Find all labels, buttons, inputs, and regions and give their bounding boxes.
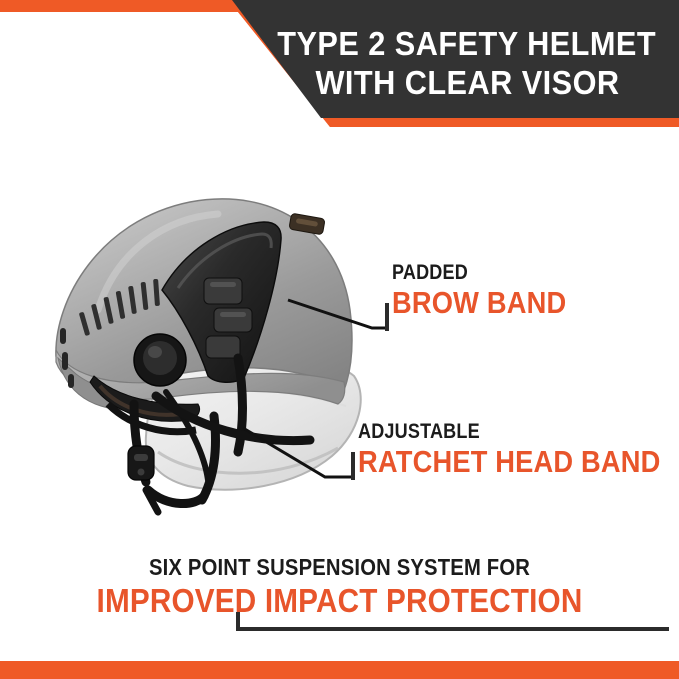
helmet-product-image xyxy=(38,160,368,520)
header-title-line-1: TYPE 2 SAFETY HELMET xyxy=(278,25,657,64)
footer-tagline: SIX POINT SUSPENSION SYSTEM FOR IMPROVED… xyxy=(0,556,679,618)
callout-ratchet-head-band-sub: ADJUSTABLE xyxy=(358,421,654,442)
footer-tagline-main: IMPROVED IMPACT PROTECTION xyxy=(34,584,645,618)
chin-strap-buckle xyxy=(128,446,154,480)
callout-brow-band-sub: PADDED xyxy=(392,262,562,283)
callout-brow-band-main: BROW BAND xyxy=(392,287,566,319)
callout-ratchet-head-band-main: RATCHET HEAD BAND xyxy=(358,446,661,478)
callout-tick-brow-band xyxy=(385,303,389,331)
callout-brow-band: PADDED BROW BAND xyxy=(392,262,590,319)
header-title-group: TYPE 2 SAFETY HELMET WITH CLEAR VISOR xyxy=(255,8,679,120)
infographic-canvas: TYPE 2 SAFETY HELMET WITH CLEAR VISOR xyxy=(0,0,679,679)
bottom-accent-bar xyxy=(0,661,679,679)
visor-pivot-knob xyxy=(134,334,186,386)
header-banner: TYPE 2 SAFETY HELMET WITH CLEAR VISOR xyxy=(0,0,679,132)
helmet-illustration xyxy=(38,160,368,520)
footer-rule xyxy=(236,627,669,631)
header-title-line-2: WITH CLEAR VISOR xyxy=(315,64,619,103)
footer-tagline-sub: SIX POINT SUSPENSION SYSTEM FOR xyxy=(41,556,639,579)
callout-ratchet-head-band: ADJUSTABLE RATCHET HEAD BAND xyxy=(358,421,679,478)
